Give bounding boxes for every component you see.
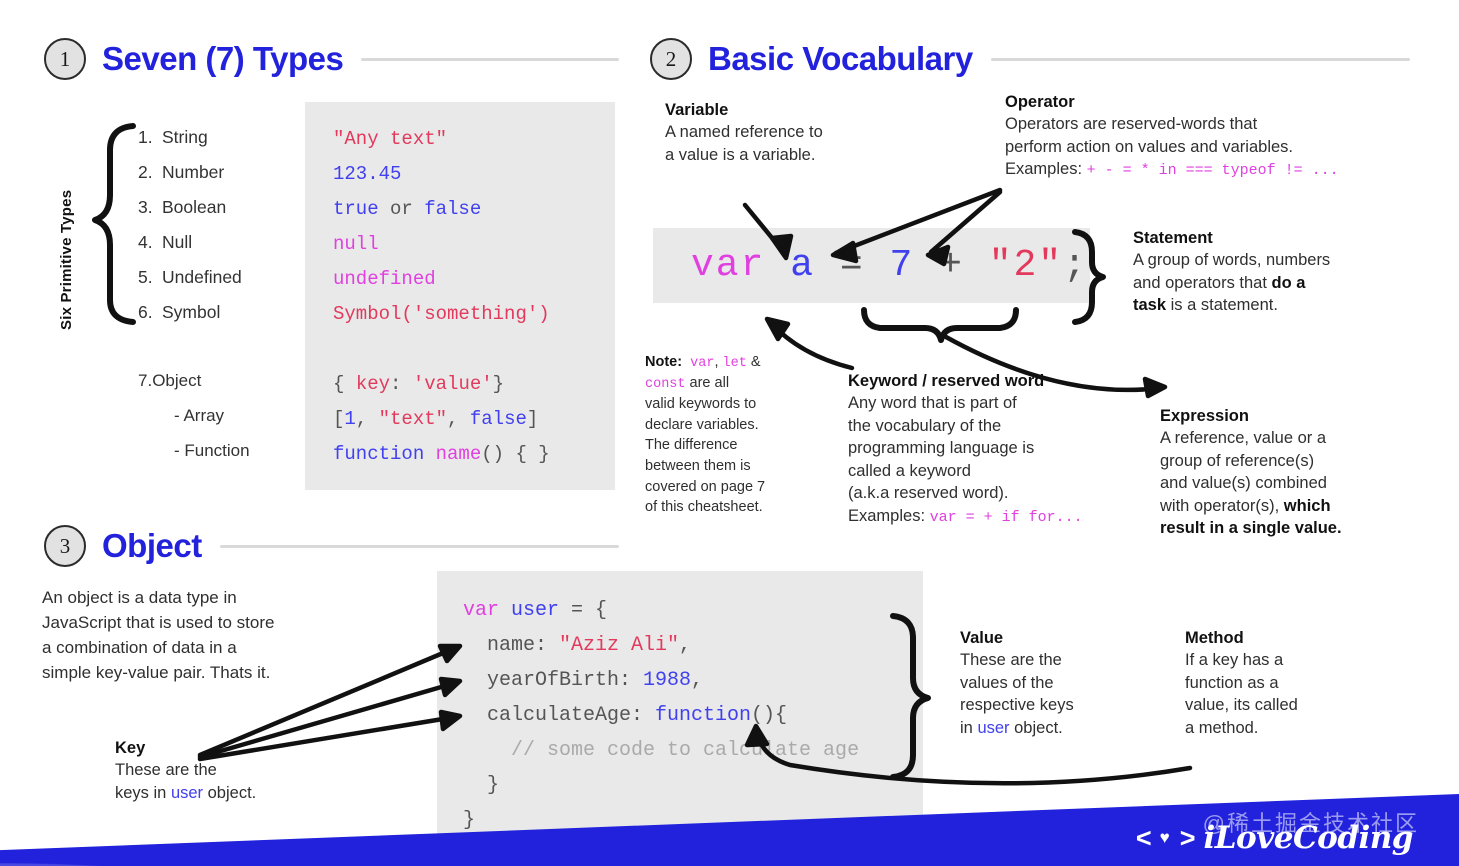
term-value-heading: Value xyxy=(960,627,1140,649)
code-line: Symbol('something') xyxy=(333,297,615,332)
term-variable-line2: a value is a variable. xyxy=(665,146,815,164)
code-line: function name() { } xyxy=(333,437,615,472)
code-line: [1, "text", false] xyxy=(333,402,615,437)
expression-code-panel: var a = 7 + "2"; xyxy=(653,228,1090,303)
section-number-badge-2: 2 xyxy=(650,38,692,80)
site-watermark: @稀土掘金技术社区 xyxy=(1203,806,1419,838)
term-method-line: value, its called xyxy=(1185,696,1298,714)
term-operator-heading: Operator xyxy=(1005,91,1405,113)
primitive-types-list: 1.String 2.Number 3.Boolean 4.Null 5.Und… xyxy=(138,120,242,330)
list-item: 3.Boolean xyxy=(138,190,242,225)
term-note: Note: var, let & const are all valid key… xyxy=(645,352,810,518)
term-keyword-examples-code: var = + if for... xyxy=(930,509,1083,526)
section-rule-2 xyxy=(991,58,1410,61)
types-code-panel: "Any text" 123.45 true or false null und… xyxy=(305,102,615,490)
term-variable: Variable A named reference to a value is… xyxy=(665,99,895,166)
term-statement-line2a: and operators that xyxy=(1133,274,1272,292)
list-item: 6.Symbol xyxy=(138,295,242,330)
term-operator: Operator Operators are reserved-words th… xyxy=(1005,91,1405,182)
term-method-line: a method. xyxy=(1185,719,1258,737)
term-note-kw1: var xyxy=(682,356,714,371)
term-method: Method If a key has a function as a valu… xyxy=(1185,627,1385,739)
brace-primitive-types xyxy=(95,126,133,322)
term-method-heading: Method xyxy=(1185,627,1385,649)
term-expression-line5: result in a single value. xyxy=(1160,519,1342,537)
list-item: 5.Undefined xyxy=(138,260,242,295)
term-value-line3: respective keys xyxy=(960,696,1074,714)
term-expression-line2: group of reference(s) xyxy=(1160,452,1314,470)
section-header-3: 3 Object xyxy=(44,525,619,567)
term-expression-heading: Expression xyxy=(1160,405,1410,427)
code-line: var user = { xyxy=(463,593,923,628)
object-description-line: a combination of data in a xyxy=(42,638,237,657)
term-variable-heading: Variable xyxy=(665,99,895,121)
section-number-badge-1: 1 xyxy=(44,38,86,80)
logo-chevron-right: > xyxy=(1180,823,1194,854)
term-expression-line1: A reference, value or a xyxy=(1160,429,1326,447)
term-statement: Statement A group of words, numbers and … xyxy=(1133,227,1403,317)
code-line: "Any text" xyxy=(333,122,615,157)
cheatsheet-page: 1 Seven (7) Types Six Primitive Types 1.… xyxy=(0,0,1459,866)
term-keyword-line: Any word that is part of xyxy=(848,394,1017,412)
term-value-line4c: object. xyxy=(1010,719,1063,737)
term-note-line: valid keywords to xyxy=(645,396,756,412)
term-statement-heading: Statement xyxy=(1133,227,1403,249)
term-key-heading: Key xyxy=(115,737,335,759)
section-title-3: Object xyxy=(102,527,202,565)
arrowhead-expression xyxy=(1145,379,1165,396)
list-item: - Function xyxy=(138,433,250,468)
term-expression-line4a: with operator(s), xyxy=(1160,497,1284,515)
list-item: 7.Object xyxy=(138,363,250,398)
term-operator-line2: perform action on values and variables. xyxy=(1005,138,1293,156)
term-keyword-line: (a.k.a reserved word). xyxy=(848,484,1008,502)
term-value-line2: values of the xyxy=(960,674,1054,692)
term-method-line: If a key has a xyxy=(1185,651,1283,669)
term-note-line: covered on page 7 xyxy=(645,479,765,495)
object-description-line: simple key-value pair. Thats it. xyxy=(42,663,270,682)
list-item: - Array xyxy=(138,398,250,433)
term-statement-line2b: do a xyxy=(1272,274,1306,292)
term-value-line4a: in xyxy=(960,719,977,737)
code-line: true or false xyxy=(333,192,615,227)
section-header-2: 2 Basic Vocabulary xyxy=(650,38,1410,80)
term-note-kw3: const xyxy=(645,377,686,392)
term-note-line: declare variables. xyxy=(645,417,759,433)
term-note-line: of this cheatsheet. xyxy=(645,499,763,515)
code-line: calculateAge: function(){ xyxy=(463,698,923,733)
code-line: undefined xyxy=(333,262,615,297)
term-expression-line3: and value(s) combined xyxy=(1160,474,1327,492)
term-keyword-heading: Keyword / reserved word xyxy=(848,370,1123,392)
term-keyword-line: the vocabulary of the xyxy=(848,417,1001,435)
term-operator-line1: Operators are reserved-words that xyxy=(1005,115,1257,133)
section-number-badge-3: 3 xyxy=(44,525,86,567)
object-description-line: JavaScript that is used to store xyxy=(42,613,274,632)
list-item: 4.Null xyxy=(138,225,242,260)
code-line: { key: 'value'} xyxy=(333,367,615,402)
logo-chevron-left: < xyxy=(1136,823,1150,854)
term-note-kw2: let xyxy=(723,356,747,371)
term-keyword-examples-label: Examples: xyxy=(848,507,930,525)
list-item: 2.Number xyxy=(138,155,242,190)
term-note-line: The difference xyxy=(645,437,737,453)
arrowhead-keyword xyxy=(767,319,788,339)
object-description: An object is a data type in JavaScript t… xyxy=(42,585,362,686)
term-expression-line4b: which xyxy=(1284,497,1331,515)
brace-expression xyxy=(864,310,1016,340)
term-statement-line3b: is a statement. xyxy=(1166,296,1278,314)
term-key-line1: These are the xyxy=(115,761,217,779)
term-note-sep2: & xyxy=(747,354,761,370)
term-keyword-line: programming language is xyxy=(848,439,1034,457)
term-note-line: between them is xyxy=(645,458,751,474)
term-keyword-line: called a keyword xyxy=(848,462,971,480)
term-operator-examples-code: + - = * in === typeof != ... xyxy=(1087,162,1339,179)
code-line-blank xyxy=(333,332,615,367)
object-description-line: An object is a data type in xyxy=(42,588,237,607)
section-rule-1 xyxy=(361,58,619,61)
term-keyword: Keyword / reserved word Any word that is… xyxy=(848,370,1123,528)
footer-banner: < ♥ > iLoveCoding @稀土掘金技术社区 xyxy=(0,794,1459,866)
code-line: var a = 7 + "2"; xyxy=(691,244,1088,287)
heart-icon: ♥ xyxy=(1160,828,1170,848)
term-value: Value These are the values of the respec… xyxy=(960,627,1140,739)
term-note-sep1: , xyxy=(714,354,722,370)
list-item: 1.String xyxy=(138,120,242,155)
term-value-line1: These are the xyxy=(960,651,1062,669)
term-method-line: function as a xyxy=(1185,674,1279,692)
term-statement-line1: A group of words, numbers xyxy=(1133,251,1330,269)
object-type-list: 7.Object - Array - Function xyxy=(138,363,250,468)
code-line: // some code to calculate age xyxy=(463,733,923,768)
term-expression: Expression A reference, value or a group… xyxy=(1160,405,1410,540)
section-title-1: Seven (7) Types xyxy=(102,40,343,78)
term-note-label: Note: xyxy=(645,354,682,370)
section-header-1: 1 Seven (7) Types xyxy=(44,38,619,80)
term-variable-line1: A named reference to xyxy=(665,123,823,141)
section-rule-3 xyxy=(220,545,619,548)
code-line: 123.45 xyxy=(333,157,615,192)
term-statement-line3a: task xyxy=(1133,296,1166,314)
footer-swoosh xyxy=(0,794,560,866)
code-line: null xyxy=(333,227,615,262)
section-title-2: Basic Vocabulary xyxy=(708,40,973,78)
code-line: name: "Aziz Ali", xyxy=(463,628,923,663)
term-value-line4b: user xyxy=(977,719,1009,737)
six-primitive-types-label: Six Primitive Types xyxy=(58,190,75,330)
code-line: yearOfBirth: 1988, xyxy=(463,663,923,698)
term-operator-examples-label: Examples: xyxy=(1005,160,1087,178)
term-note-rest1: are all xyxy=(686,375,730,391)
